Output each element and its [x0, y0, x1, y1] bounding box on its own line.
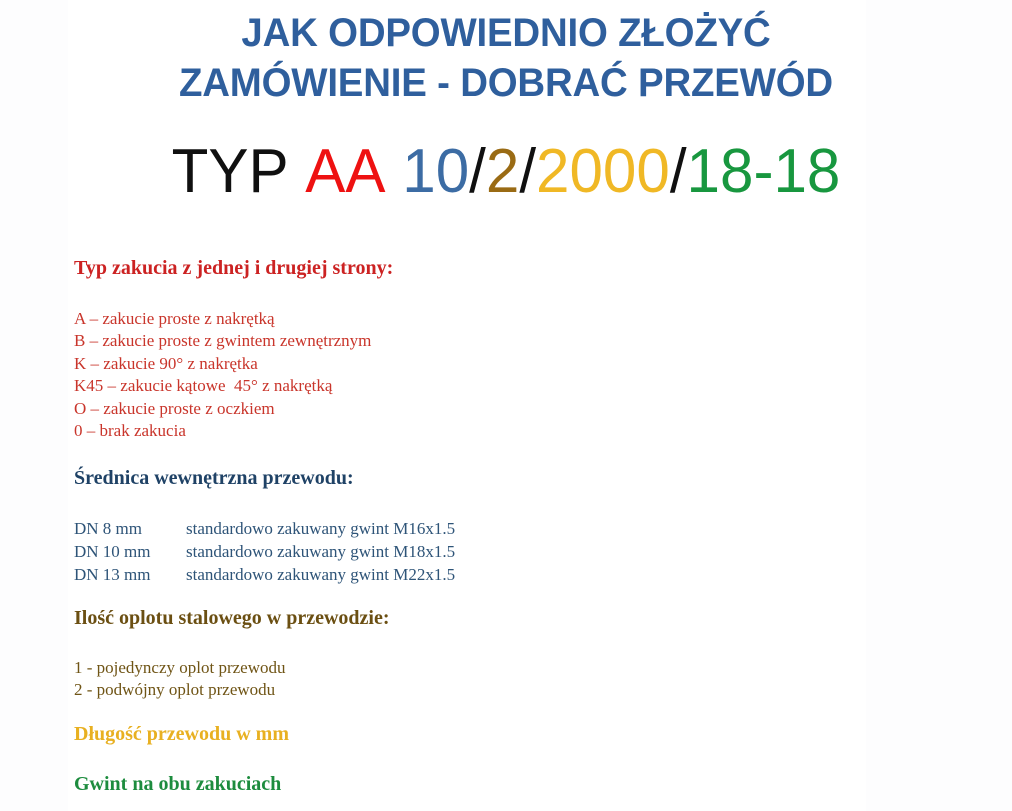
- list-item: K – zakucie 90° z nakrętka: [74, 353, 393, 375]
- code-separator-2: /: [519, 137, 536, 206]
- product-code: TYP AA 10/2/2000/18-18: [15, 138, 997, 206]
- list-item: B – zakucie proste z gwintem zewnętrznym: [74, 330, 393, 352]
- page-title: JAK ODPOWIEDNIO ZŁOŻYĆ ZAMÓWIENIE - DOBR…: [20, 8, 992, 108]
- list-item: K45 – zakucie kątowe 45° z nakrętką: [74, 375, 393, 397]
- section-braid-count: Ilość oplotu stalowego w przewodzie: 1 -…: [74, 606, 390, 702]
- section-length-heading: Długość przewodu w mm: [74, 722, 289, 746]
- diameter-size: DN 10 mm: [74, 541, 186, 564]
- code-length: 2000: [536, 137, 670, 206]
- section-inner-diameter-heading: Średnica wewnętrzna przewodu:: [74, 466, 455, 490]
- diameter-note: standardowo zakuwany gwint M16x1.5: [186, 518, 455, 541]
- list-item: 1 - pojedynczy oplot przewodu: [74, 657, 390, 679]
- section-crimp-type-heading: Typ zakucia z jednej i drugiej strony:: [74, 256, 393, 280]
- code-space-2: [386, 137, 403, 206]
- diameter-note: standardowo zakuwany gwint M18x1.5: [186, 541, 455, 564]
- slide: JAK ODPOWIEDNIO ZŁOŻYĆ ZAMÓWIENIE - DOBR…: [0, 0, 1012, 811]
- table-row: DN 10 mmstandardowo zakuwany gwint M18x1…: [74, 541, 455, 564]
- code-separator-3: /: [670, 137, 687, 206]
- diameter-size: DN 13 mm: [74, 564, 186, 587]
- section-inner-diameter: Średnica wewnętrzna przewodu: DN 8 mmsta…: [74, 466, 455, 586]
- list-item: O – zakucie proste z oczkiem: [74, 398, 393, 420]
- list-item: 0 – brak zakucia: [74, 420, 393, 442]
- code-thread: 18-18: [687, 137, 841, 206]
- code-space: [289, 137, 306, 206]
- braid-count-list: 1 - pojedynczy oplot przewodu 2 - podwój…: [74, 657, 390, 702]
- section-thread-heading: Gwint na obu zakuciach: [74, 772, 281, 796]
- code-prefix: TYP: [172, 137, 289, 206]
- page-title-line-2: ZAMÓWIENIE - DOBRAĆ PRZEWÓD: [20, 58, 992, 108]
- section-length: Długość przewodu w mm: [74, 722, 289, 746]
- diameter-note: standardowo zakuwany gwint M22x1.5: [186, 564, 455, 587]
- code-separator-1: /: [469, 137, 486, 206]
- list-item: A – zakucie proste z nakrętką: [74, 308, 393, 330]
- code-crimp-type: AA: [305, 137, 385, 206]
- section-thread: Gwint na obu zakuciach: [74, 772, 281, 796]
- page-title-line-1: JAK ODPOWIEDNIO ZŁOŻYĆ: [20, 8, 992, 58]
- section-crimp-type: Typ zakucia z jednej i drugiej strony: A…: [74, 256, 393, 442]
- list-item: 2 - podwójny oplot przewodu: [74, 679, 390, 701]
- section-braid-count-heading: Ilość oplotu stalowego w przewodzie:: [74, 606, 390, 630]
- code-braid-count: 2: [486, 137, 519, 206]
- diameter-table: DN 8 mmstandardowo zakuwany gwint M16x1.…: [74, 518, 455, 586]
- code-diameter: 10: [402, 137, 469, 206]
- table-row: DN 13 mmstandardowo zakuwany gwint M22x1…: [74, 564, 455, 587]
- table-row: DN 8 mmstandardowo zakuwany gwint M16x1.…: [74, 518, 455, 541]
- diameter-size: DN 8 mm: [74, 518, 186, 541]
- crimp-type-list: A – zakucie proste z nakrętką B – zakuci…: [74, 308, 393, 442]
